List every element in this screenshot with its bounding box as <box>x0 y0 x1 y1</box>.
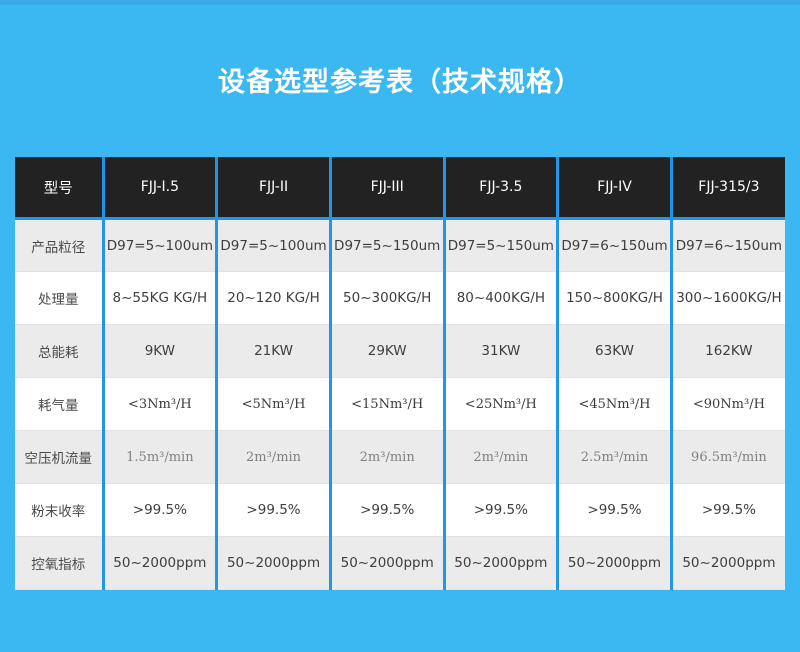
cell-value: >99.5% <box>558 484 672 537</box>
cell-value: 50~300KG/H <box>330 272 444 325</box>
cell-value: 300~1600KG/H <box>671 272 785 325</box>
cell-value: 2.5m³/min <box>558 431 672 484</box>
cell-value: 2m³/min <box>217 431 331 484</box>
cell-value: 2m³/min <box>444 431 558 484</box>
cell-value: 29KW <box>330 325 444 378</box>
cell-value: >99.5% <box>444 484 558 537</box>
cell-value: <15Nm³/H <box>330 378 444 431</box>
table-row-compressor-flow: 空压机流量 1.5m³/min 2m³/min 2m³/min 2m³/min … <box>15 431 785 484</box>
cell-value: D97=6~150um <box>558 219 672 272</box>
cell-value: D97=5~150um <box>444 219 558 272</box>
table-row-particle-size: 产品粒径 D97=5~100um D97=5~100um D97=5~150um… <box>15 219 785 272</box>
cell-value: 150~800KG/H <box>558 272 672 325</box>
cell-value: 50~2000ppm <box>103 537 217 590</box>
cell-value: <25Nm³/H <box>444 378 558 431</box>
table-body: 产品粒径 D97=5~100um D97=5~100um D97=5~150um… <box>15 219 785 590</box>
cell-value: D97=6~150um <box>671 219 785 272</box>
cell-value: D97=5~100um <box>103 219 217 272</box>
cell-value: 9KW <box>103 325 217 378</box>
header-cell-model-2: FJJ-II <box>217 157 331 219</box>
cell-value: >99.5% <box>103 484 217 537</box>
header-cell-model-5: FJJ-IV <box>558 157 672 219</box>
table-row-total-power: 总能耗 9KW 21KW 29KW 31KW 63KW 162KW <box>15 325 785 378</box>
table-row-oxygen-control: 控氧指标 50~2000ppm 50~2000ppm 50~2000ppm 50… <box>15 537 785 590</box>
row-label: 空压机流量 <box>15 431 103 484</box>
page-title: 设备选型参考表（技术规格） <box>0 64 800 102</box>
cell-value: 31KW <box>444 325 558 378</box>
header-cell-model-1: FJJ-I.5 <box>103 157 217 219</box>
row-label: 控氧指标 <box>15 537 103 590</box>
cell-value: <3Nm³/H <box>103 378 217 431</box>
cell-value: 8~55KG KG/H <box>103 272 217 325</box>
cell-value: 50~2000ppm <box>330 537 444 590</box>
cell-value: D97=5~100um <box>217 219 331 272</box>
specification-table: 型号 FJJ-I.5 FJJ-II FJJ-III FJJ-3.5 FJJ-IV… <box>15 157 785 590</box>
cell-value: 50~2000ppm <box>444 537 558 590</box>
cell-value: 162KW <box>671 325 785 378</box>
row-label: 耗气量 <box>15 378 103 431</box>
cell-value: 50~2000ppm <box>558 537 672 590</box>
cell-value: >99.5% <box>330 484 444 537</box>
header-row: 型号 FJJ-I.5 FJJ-II FJJ-III FJJ-3.5 FJJ-IV… <box>15 157 785 219</box>
cell-value: 2m³/min <box>330 431 444 484</box>
header-cell-model-4: FJJ-3.5 <box>444 157 558 219</box>
cell-value: <5Nm³/H <box>217 378 331 431</box>
cell-value: D97=5~150um <box>330 219 444 272</box>
row-label: 产品粒径 <box>15 219 103 272</box>
row-label: 总能耗 <box>15 325 103 378</box>
table-row-gas-consumption: 耗气量 <3Nm³/H <5Nm³/H <15Nm³/H <25Nm³/H <4… <box>15 378 785 431</box>
cell-value: 20~120 KG/H <box>217 272 331 325</box>
table-row-throughput: 处理量 8~55KG KG/H 20~120 KG/H 50~300KG/H 8… <box>15 272 785 325</box>
table-row-powder-yield: 粉末收率 >99.5% >99.5% >99.5% >99.5% >99.5% … <box>15 484 785 537</box>
top-accent-strip <box>0 0 800 5</box>
cell-value: >99.5% <box>217 484 331 537</box>
table-header: 型号 FJJ-I.5 FJJ-II FJJ-III FJJ-3.5 FJJ-IV… <box>15 157 785 219</box>
cell-value: <90Nm³/H <box>671 378 785 431</box>
row-label: 粉末收率 <box>15 484 103 537</box>
header-cell-model-3: FJJ-III <box>330 157 444 219</box>
cell-value: 96.5m³/min <box>671 431 785 484</box>
cell-value: >99.5% <box>671 484 785 537</box>
cell-value: 1.5m³/min <box>103 431 217 484</box>
header-cell-model: 型号 <box>15 157 103 219</box>
cell-value: 80~400KG/H <box>444 272 558 325</box>
cell-value: 21KW <box>217 325 331 378</box>
cell-value: <45Nm³/H <box>558 378 672 431</box>
cell-value: 50~2000ppm <box>217 537 331 590</box>
cell-value: 63KW <box>558 325 672 378</box>
header-cell-model-6: FJJ-315/3 <box>671 157 785 219</box>
page-root: 设备选型参考表（技术规格） 型号 FJJ-I.5 FJJ-II FJJ-III … <box>0 0 800 652</box>
row-label: 处理量 <box>15 272 103 325</box>
cell-value: 50~2000ppm <box>671 537 785 590</box>
